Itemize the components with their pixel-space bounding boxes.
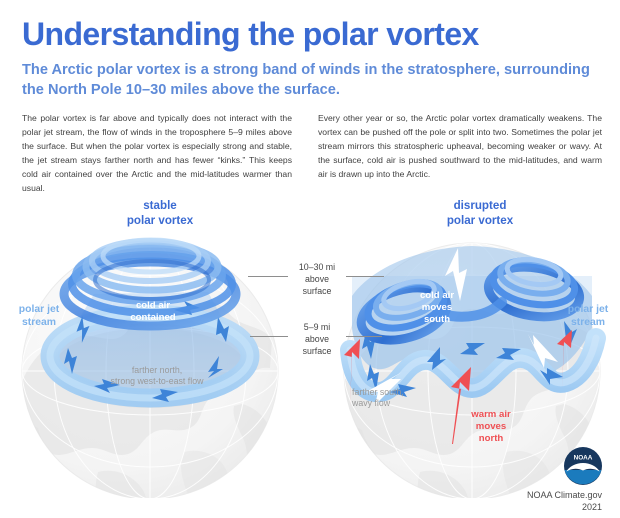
noaa-logo-wordmark: NOAA xyxy=(574,455,593,462)
infographic-root: Understanding the polar vortex The Arcti… xyxy=(0,0,620,518)
callout-altitude-stratosphere-line1: 10–30 mi xyxy=(299,262,335,272)
section-heading-stable: stable polar vortex xyxy=(60,198,260,229)
body-paragraph-right: Every other year or so, the Arctic polar… xyxy=(318,112,602,182)
credit-line: NOAA Climate.gov 2021 xyxy=(452,489,602,513)
section-heading-stable-line1: stable xyxy=(143,199,177,212)
leader-line-lower-left xyxy=(250,336,288,337)
credit-line-source: NOAA Climate.gov xyxy=(527,490,602,500)
body-paragraph-left: The polar vortex is far above and typica… xyxy=(22,112,292,196)
callout-altitude-stratosphere: 10–30 mi above surface xyxy=(288,262,346,297)
leader-line-lower-right xyxy=(346,336,382,337)
callout-altitude-stratosphere-line2: above xyxy=(305,274,329,284)
callout-altitude-troposphere-line1: 5–9 mi xyxy=(304,322,330,332)
page-subtitle: The Arctic polar vortex is a strong band… xyxy=(22,60,604,100)
noaa-logo: NOAA xyxy=(563,446,603,486)
section-heading-disrupted-line1: disrupted xyxy=(454,199,507,212)
section-heading-disrupted: disrupted polar vortex xyxy=(380,198,580,229)
leader-line-upper-left xyxy=(248,276,288,277)
credit-line-year: 2021 xyxy=(582,502,602,512)
callout-altitude-troposphere-line2: above xyxy=(305,334,329,344)
leader-line-upper-right xyxy=(346,276,384,277)
callout-altitude-troposphere-line3: surface xyxy=(303,346,332,356)
section-heading-stable-line2: polar vortex xyxy=(127,214,193,227)
page-title: Understanding the polar vortex xyxy=(22,18,602,52)
callout-altitude-stratosphere-line3: surface xyxy=(303,286,332,296)
section-heading-disrupted-line2: polar vortex xyxy=(447,214,513,227)
callout-altitude-troposphere: 5–9 mi above surface xyxy=(288,322,346,357)
